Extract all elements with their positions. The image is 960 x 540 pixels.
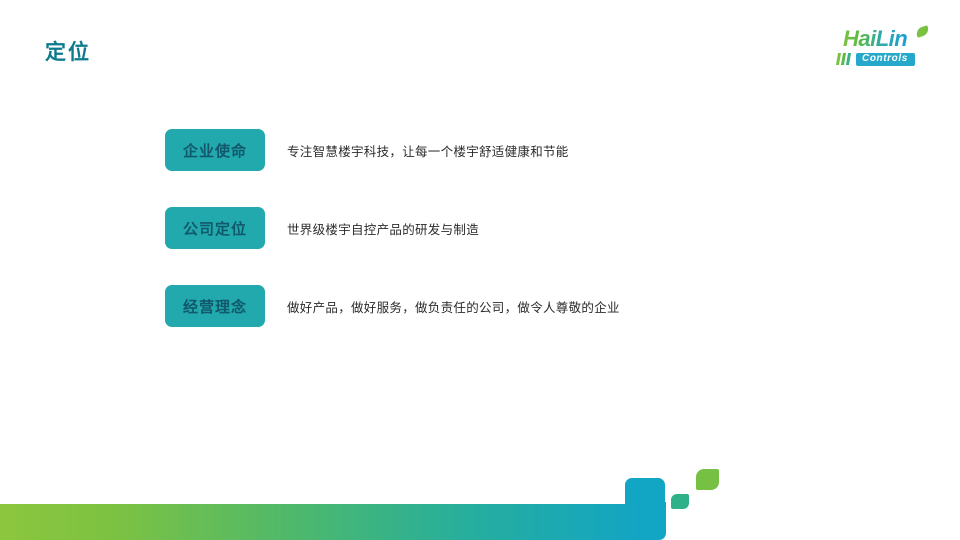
row-text-positioning: 世界级楼宇自控产品的研发与制造 bbox=[287, 219, 479, 238]
leaf-icon bbox=[915, 25, 930, 38]
bars-icon bbox=[837, 53, 853, 65]
logo-subtitle: Controls bbox=[856, 53, 915, 66]
badge-philosophy: 经营理念 bbox=[165, 285, 265, 327]
logo-wordmark: HaiLin bbox=[843, 28, 907, 50]
badge-mission: 企业使命 bbox=[165, 129, 265, 171]
decor-square-green bbox=[696, 469, 719, 490]
decor-gradient-bar bbox=[0, 504, 642, 540]
row-text-philosophy: 做好产品，做好服务，做负责任的公司，做令人尊敬的企业 bbox=[287, 297, 620, 316]
decor-step-shape-2 bbox=[642, 502, 666, 540]
list-item: 公司定位 世界级楼宇自控产品的研发与制造 bbox=[165, 207, 805, 249]
decor-square-teal bbox=[671, 494, 689, 509]
decor-step-shape bbox=[625, 478, 665, 504]
badge-positioning: 公司定位 bbox=[165, 207, 265, 249]
slide: 定位 HaiLin Controls 企业使命 专注智慧楼宇科技，让每一个楼宇舒… bbox=[0, 0, 960, 540]
list-item: 企业使命 专注智慧楼宇科技，让每一个楼宇舒适健康和节能 bbox=[165, 129, 805, 171]
list-item: 经营理念 做好产品，做好服务，做负责任的公司，做令人尊敬的企业 bbox=[165, 285, 805, 327]
content-rows: 企业使命 专注智慧楼宇科技，让每一个楼宇舒适健康和节能 公司定位 世界级楼宇自控… bbox=[165, 129, 805, 327]
row-text-mission: 专注智慧楼宇科技，让每一个楼宇舒适健康和节能 bbox=[287, 141, 569, 160]
page-title: 定位 bbox=[45, 42, 91, 63]
company-logo: HaiLin Controls bbox=[837, 28, 933, 68]
